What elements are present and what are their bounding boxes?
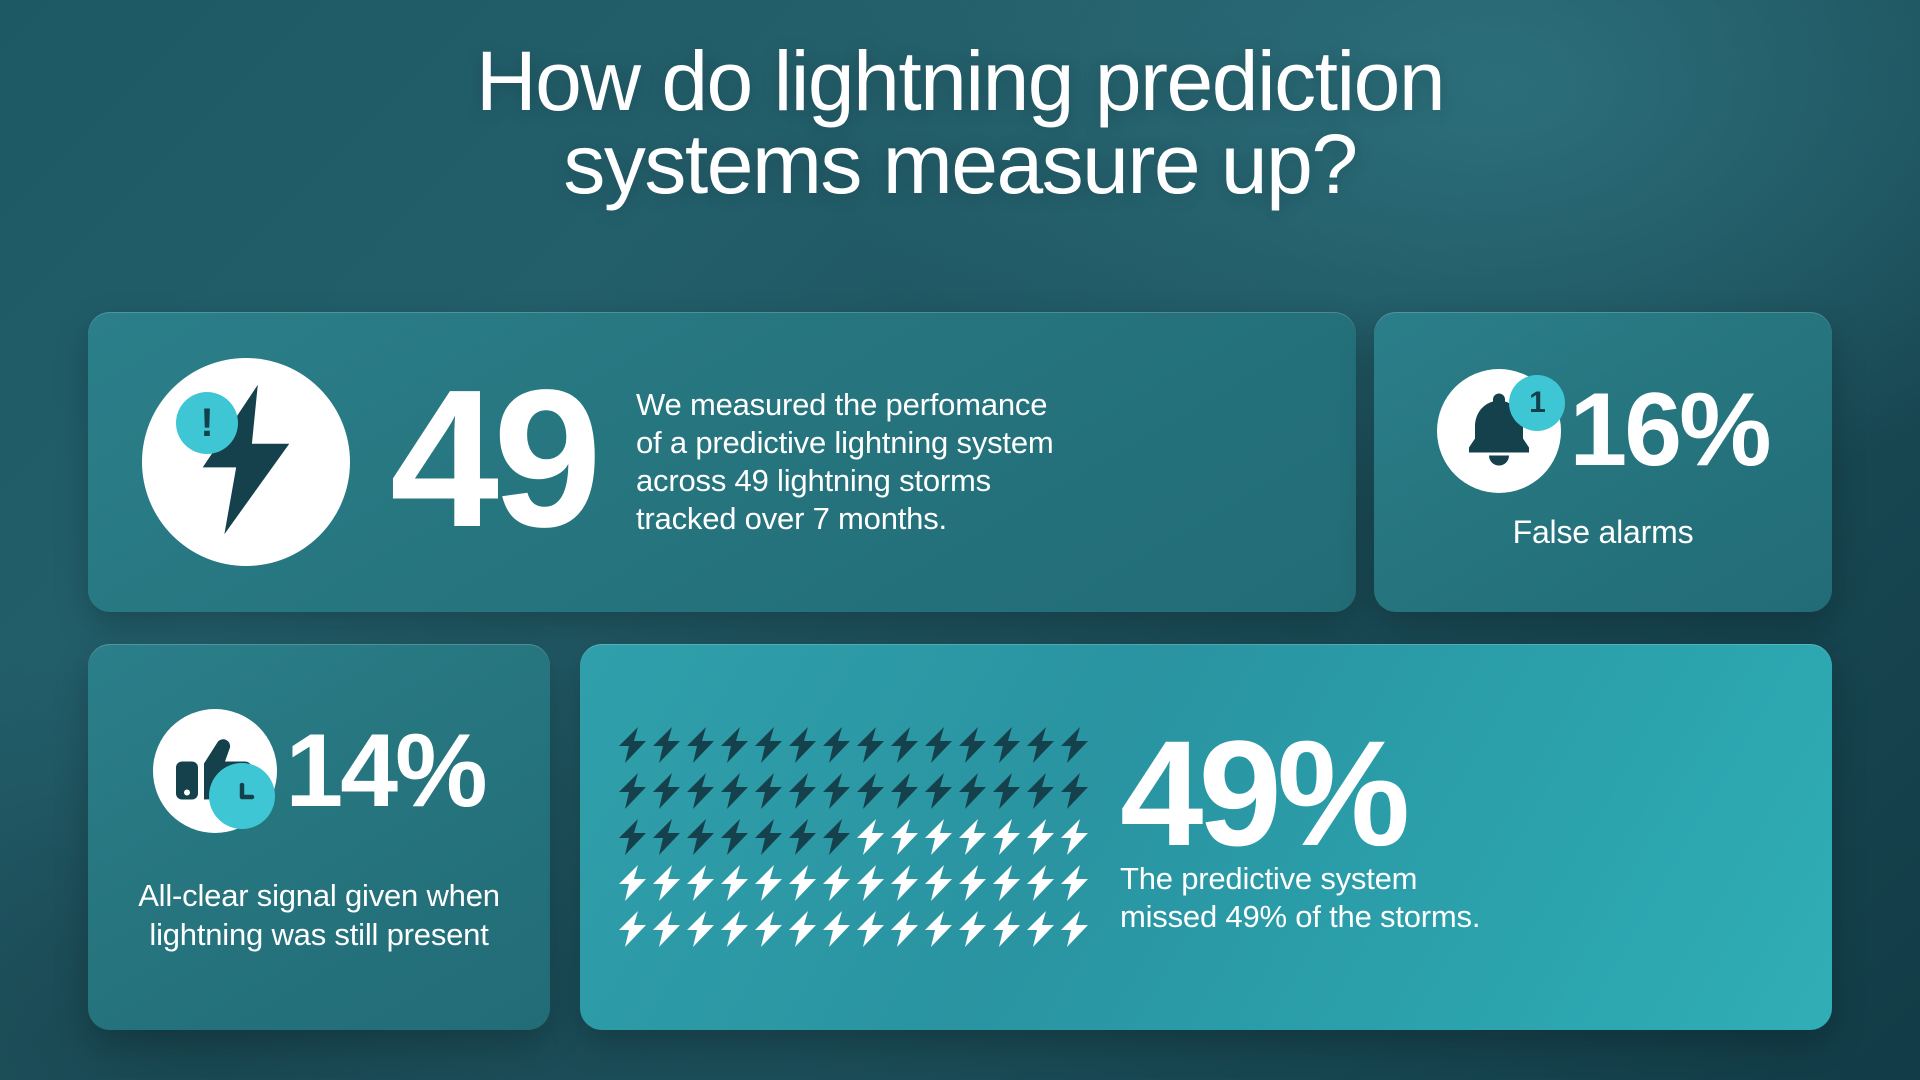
waffle-cell-detected [786,773,818,809]
waffle-cell-detected [820,727,852,763]
waffle-cell-detected [684,819,716,855]
card-missed-storms: 49% The predictive system missed 49% of … [580,644,1832,1030]
waffle-cell-missed [752,911,784,947]
missed-value: 49% [1120,735,1405,852]
overview-body-line-4: tracked over 7 months. [636,500,1053,538]
waffle-cell-missed [786,911,818,947]
waffle-cell-missed [820,865,852,901]
waffle-cell-detected [922,773,954,809]
waffle-cell-detected [1058,773,1090,809]
waffle-cell-detected [752,819,784,855]
false-alarms-value: 16% [1569,388,1768,473]
waffle-cell-detected [956,727,988,763]
waffle-cell-detected [786,819,818,855]
all-clear-caption-line-1: All-clear signal given when [138,877,500,916]
waffle-cell-detected [888,773,920,809]
bell-notification-icon: 1 [1437,369,1561,493]
clock-icon [209,763,275,829]
lightning-waffle-chart [616,727,1090,947]
waffle-cell-detected [956,773,988,809]
alert-badge: ! [176,392,238,454]
all-clear-caption-line-2: lightning was still present [138,916,500,955]
false-alarms-caption: False alarms [1513,513,1694,551]
overview-body-line-2: of a predictive lightning system [636,424,1053,462]
waffle-cell-detected [922,727,954,763]
overview-value: 49 [390,381,596,538]
all-clear-caption: All-clear signal given when lightning wa… [138,877,500,955]
waffle-cell-missed [990,819,1022,855]
waffle-cell-detected [820,773,852,809]
notification-count-badge: 1 [1509,375,1565,431]
waffle-cell-detected [718,773,750,809]
waffle-cell-missed [922,911,954,947]
waffle-cell-missed [1024,911,1056,947]
card-all-clear: 14% All-clear signal given when lightnin… [88,644,550,1030]
waffle-cell-missed [888,911,920,947]
waffle-cell-missed [854,865,886,901]
waffle-cell-missed [956,819,988,855]
missed-body-line-2: missed 49% of the storms. [1120,898,1480,936]
waffle-cell-missed [684,911,716,947]
card-false-alarms: 1 16% False alarms [1374,312,1832,612]
thumbs-up-clock-icon [153,709,277,833]
waffle-cell-missed [922,819,954,855]
waffle-cell-detected [684,727,716,763]
waffle-cell-detected [752,727,784,763]
waffle-cell-detected [990,727,1022,763]
overview-body-line-3: across 49 lightning storms [636,462,1053,500]
waffle-cell-detected [854,727,886,763]
waffle-cell-missed [786,865,818,901]
waffle-cell-detected [718,727,750,763]
waffle-cell-missed [650,911,682,947]
waffle-cell-detected [752,773,784,809]
overview-body: We measured the perfomance of a predicti… [636,386,1053,537]
waffle-cell-missed [956,911,988,947]
waffle-cell-missed [1024,865,1056,901]
waffle-cell-missed [616,865,648,901]
waffle-cell-missed [990,911,1022,947]
all-clear-value: 14% [285,729,484,814]
waffle-cell-detected [650,773,682,809]
waffle-cell-missed [888,819,920,855]
waffle-cell-detected [650,819,682,855]
waffle-cell-missed [650,865,682,901]
waffle-cell-missed [616,911,648,947]
waffle-cell-missed [752,865,784,901]
waffle-cell-missed [1058,819,1090,855]
waffle-cell-missed [1024,819,1056,855]
stats-board: ! 49 We measured the perfomance of a pre… [88,312,1832,1030]
page-title: How do lightning prediction systems meas… [0,0,1920,206]
waffle-cell-detected [820,819,852,855]
page-title-line-1: How do lightning prediction [476,34,1444,128]
lightning-bolt-alert-icon: ! [142,358,350,566]
waffle-cell-missed [1058,911,1090,947]
waffle-cell-detected [990,773,1022,809]
waffle-cell-missed [990,865,1022,901]
waffle-cell-missed [820,911,852,947]
card-overview: ! 49 We measured the perfomance of a pre… [88,312,1356,612]
waffle-cell-missed [922,865,954,901]
waffle-cell-detected [1024,727,1056,763]
overview-body-line-1: We measured the perfomance [636,386,1053,424]
waffle-cell-detected [684,773,716,809]
waffle-cell-detected [718,819,750,855]
missed-body: The predictive system missed 49% of the … [1120,860,1480,936]
waffle-cell-detected [854,773,886,809]
waffle-cell-missed [718,911,750,947]
waffle-cell-missed [684,865,716,901]
missed-body-line-1: The predictive system [1120,860,1480,898]
waffle-cell-detected [616,727,648,763]
waffle-cell-detected [786,727,818,763]
waffle-cell-missed [854,819,886,855]
waffle-cell-detected [1058,727,1090,763]
page-title-line-2: systems measure up? [0,123,1920,206]
waffle-cell-missed [888,865,920,901]
waffle-cell-detected [616,773,648,809]
waffle-cell-missed [854,911,886,947]
waffle-cell-missed [1058,865,1090,901]
waffle-cell-missed [956,865,988,901]
waffle-cell-detected [888,727,920,763]
waffle-cell-detected [650,727,682,763]
waffle-cell-missed [718,865,750,901]
waffle-cell-detected [1024,773,1056,809]
waffle-cell-detected [616,819,648,855]
